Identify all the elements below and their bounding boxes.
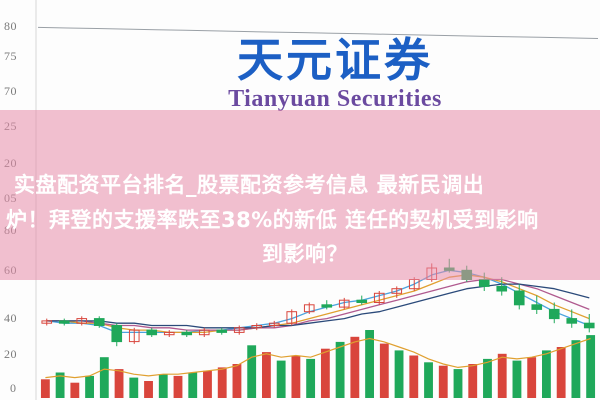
y-tick-lower-2: 40	[4, 312, 17, 324]
stock-chart-screenshot: 80 75 70 25 20 05 80 60 40 20 0 天元证券 Tia…	[0, 0, 600, 400]
y-tick-mid-2: 05	[4, 192, 17, 204]
candlestick-series	[42, 259, 594, 346]
y-tick-lower-4: 0	[10, 382, 17, 394]
volume-ma-line	[45, 339, 590, 378]
y-tick-upper-2: 70	[4, 85, 17, 97]
volume-bar-series	[41, 330, 595, 398]
moving-average-lines	[47, 270, 590, 332]
y-tick-mid-0: 25	[4, 120, 17, 132]
y-tick-lower-3: 20	[4, 348, 17, 360]
y-tick-lower-0: 80	[4, 224, 17, 236]
y-tick-upper-1: 75	[4, 50, 17, 62]
y-tick-upper-0: 80	[4, 20, 17, 32]
stock-chart-canvas	[0, 0, 600, 400]
y-tick-lower-1: 60	[4, 264, 17, 276]
upper-indicator-panel	[38, 27, 598, 38]
y-tick-mid-1: 20	[4, 157, 17, 169]
